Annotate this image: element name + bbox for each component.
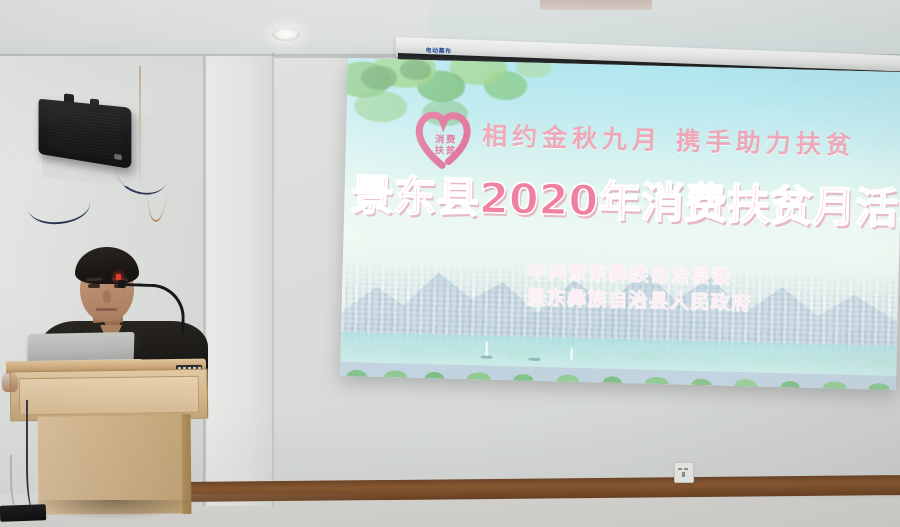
sailboat-mast-2	[570, 348, 572, 360]
podium-cable-black	[26, 400, 46, 512]
mouth	[96, 308, 117, 311]
conference-room-photo: 电动幕布 消费 扶贫	[0, 0, 900, 527]
recessed-ceiling-downlight-icon	[272, 28, 300, 41]
eye-left	[88, 284, 100, 288]
ceiling-vent	[540, 0, 652, 10]
heart-logo-text: 消费 扶贫	[426, 134, 467, 157]
wall-column	[206, 56, 274, 506]
presenter-hair	[75, 247, 139, 284]
consumption-poverty-alleviation-heart-logo: 消费 扶贫	[411, 108, 475, 172]
floor-equipment-box	[0, 504, 46, 522]
wall-column-edge-left	[203, 56, 207, 506]
podium-floor-shadow	[34, 500, 194, 520]
presenter-hand	[2, 372, 18, 392]
wall-seam	[139, 66, 141, 186]
wall-column-edge-right	[272, 52, 275, 507]
speaker-grille	[47, 105, 121, 160]
slide-organizations: 中共景东彝族自治县委 景东彝族自治县人民政府	[526, 259, 753, 317]
projection-screen[interactable]: 消费 扶贫 相约金秋九月 携手助力扶贫 景东县2020年消费扶贫月活动启动仪式 …	[340, 58, 900, 390]
nose	[103, 290, 111, 303]
boat-1	[480, 355, 492, 358]
boat-2	[528, 358, 540, 361]
wall-power-outlet-icon[interactable]	[674, 462, 694, 483]
speaker-badge	[114, 154, 121, 160]
